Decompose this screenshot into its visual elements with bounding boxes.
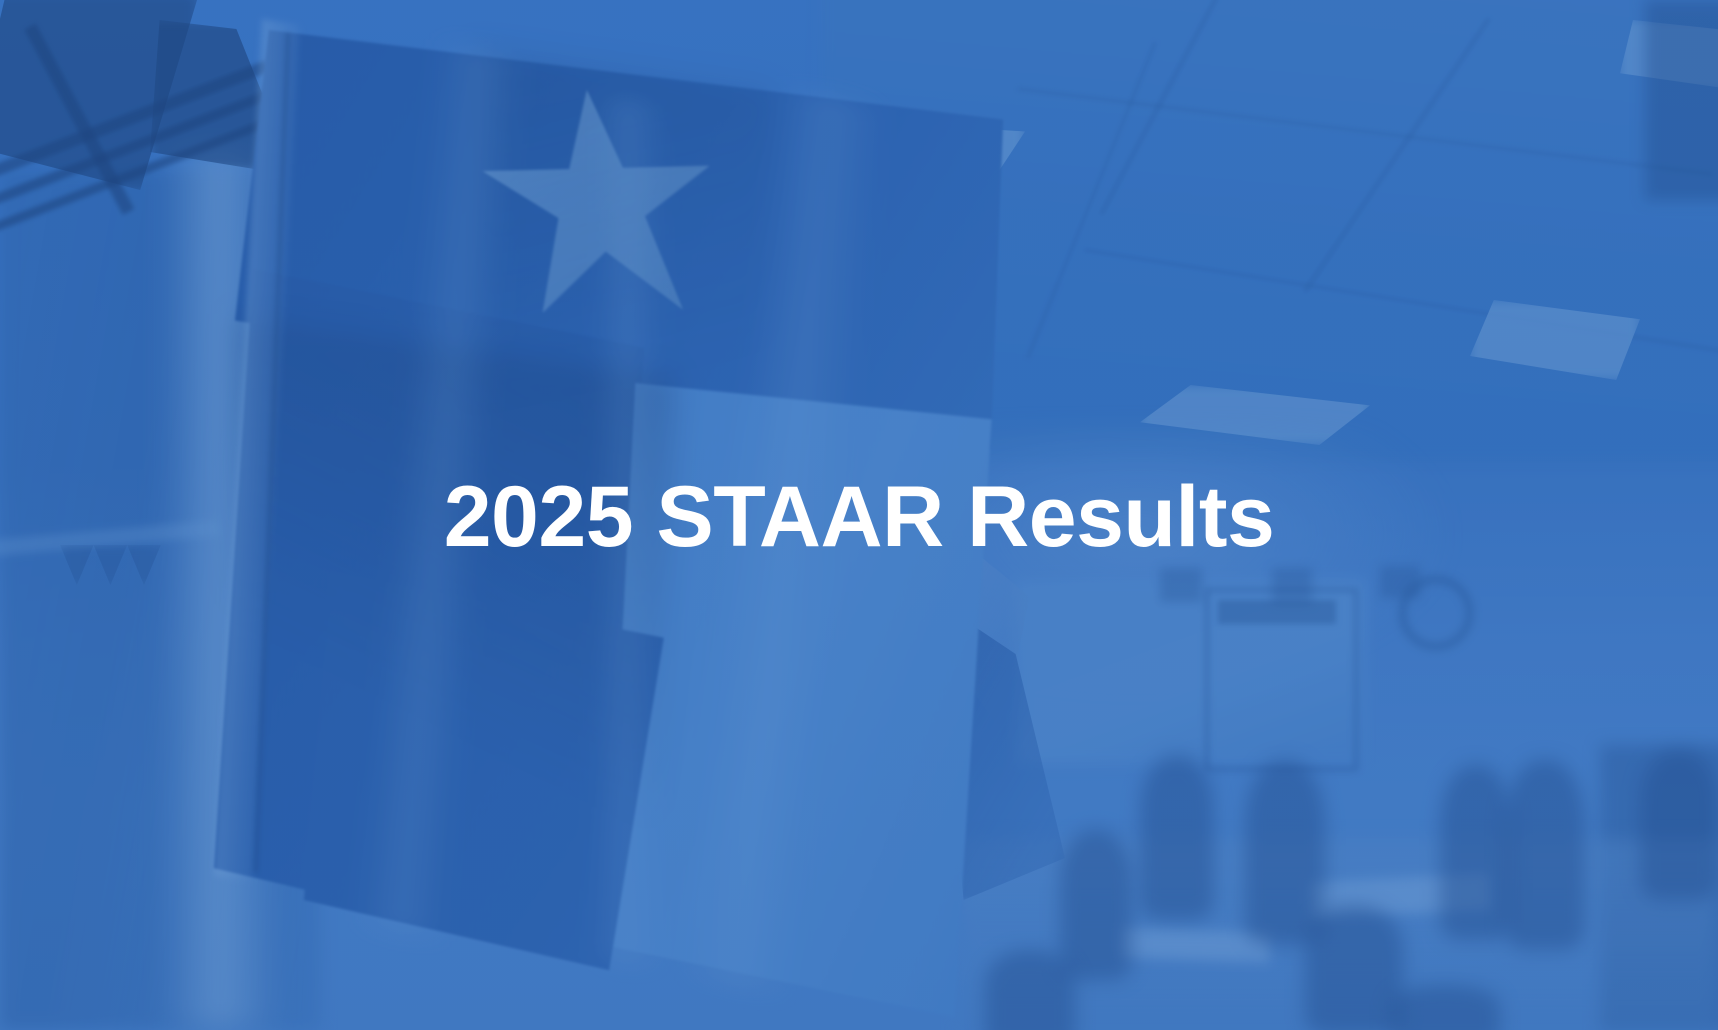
hero-banner: 2025 STAAR Results xyxy=(0,0,1718,1030)
blue-overlay-gradient xyxy=(0,0,1718,1030)
